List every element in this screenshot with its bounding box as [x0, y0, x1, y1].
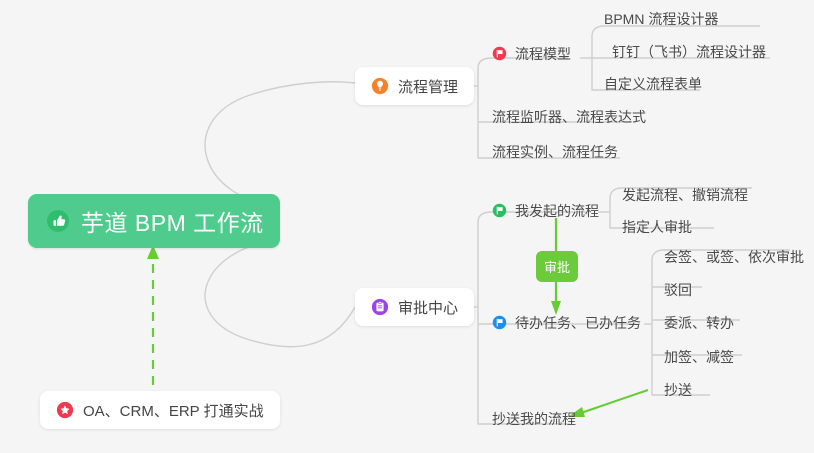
node-label: OA、CRM、ERP 打通实战 [83, 400, 264, 421]
node-approval-center[interactable]: 审批中心 [355, 288, 474, 326]
badge-label: 审批 [544, 257, 570, 276]
thumbs-up-icon [46, 209, 70, 233]
node-label: 待办任务、已办任务 [515, 316, 641, 330]
node-label: 流程管理 [398, 76, 458, 97]
node-todo-done-tasks[interactable]: 待办任务、已办任务 [492, 315, 641, 330]
node-oa-crm-erp[interactable]: OA、CRM、ERP 打通实战 [40, 391, 280, 429]
node-dingtalk-designer[interactable]: 钉钉（飞书）流程设计器 [612, 45, 766, 59]
node-label: 会签、或签、依次审批 [664, 250, 804, 264]
node-label: 驳回 [664, 283, 692, 297]
node-label: 指定人审批 [622, 220, 692, 234]
flag-icon [492, 315, 507, 330]
node-assign-approver[interactable]: 指定人审批 [622, 220, 692, 234]
clipboard-icon [371, 298, 389, 316]
node-label: 审批中心 [398, 297, 458, 318]
node-label: 抄送我的流程 [492, 412, 576, 426]
node-label: 我发起的流程 [515, 204, 599, 218]
node-process-management[interactable]: 流程管理 [355, 67, 474, 105]
node-my-started-processes[interactable]: 我发起的流程 [492, 203, 599, 218]
flag-icon [492, 203, 507, 218]
node-label: 加签、减签 [664, 350, 734, 364]
node-label: 自定义流程表单 [604, 77, 702, 91]
flag-icon [492, 46, 507, 61]
node-label: 委派、转办 [664, 316, 734, 330]
node-label: 抄送 [664, 383, 692, 397]
node-label: 流程实例、流程任务 [492, 145, 618, 159]
node-process-instance[interactable]: 流程实例、流程任务 [492, 145, 618, 159]
node-process-listener[interactable]: 流程监听器、流程表达式 [492, 110, 646, 124]
callout-dashed-arrow [147, 245, 159, 385]
node-label: 发起流程、撤销流程 [622, 188, 748, 202]
approval-badge[interactable]: 审批 [536, 251, 578, 282]
node-add-remove-sign[interactable]: 加签、减签 [664, 350, 734, 364]
node-label: 流程模型 [515, 47, 571, 61]
node-custom-form[interactable]: 自定义流程表单 [604, 77, 702, 91]
node-process-model[interactable]: 流程模型 [492, 46, 571, 61]
node-cc-to-me[interactable]: 抄送我的流程 [492, 412, 576, 426]
root-node[interactable]: 芋道 BPM 工作流 [28, 194, 280, 248]
node-bpmn-designer[interactable]: BPMN 流程设计器 [604, 12, 718, 26]
node-start-cancel-process[interactable]: 发起流程、撤销流程 [622, 188, 748, 202]
node-label: 流程监听器、流程表达式 [492, 110, 646, 124]
star-icon [56, 401, 74, 419]
cc-link-arrow [568, 390, 648, 417]
root-label: 芋道 BPM 工作流 [81, 204, 264, 238]
node-cc[interactable]: 抄送 [664, 383, 692, 397]
node-delegate-transfer[interactable]: 委派、转办 [664, 316, 734, 330]
mindmap-canvas: 芋道 BPM 工作流 流程管理 流程模型 BPMN 流程设计器 钉钉（飞书）流程 [0, 0, 814, 453]
node-label: BPMN 流程设计器 [604, 12, 718, 26]
node-reject[interactable]: 驳回 [664, 283, 692, 297]
node-countersign[interactable]: 会签、或签、依次审批 [664, 250, 804, 264]
node-label: 钉钉（飞书）流程设计器 [612, 45, 766, 59]
lightbulb-icon [371, 77, 389, 95]
